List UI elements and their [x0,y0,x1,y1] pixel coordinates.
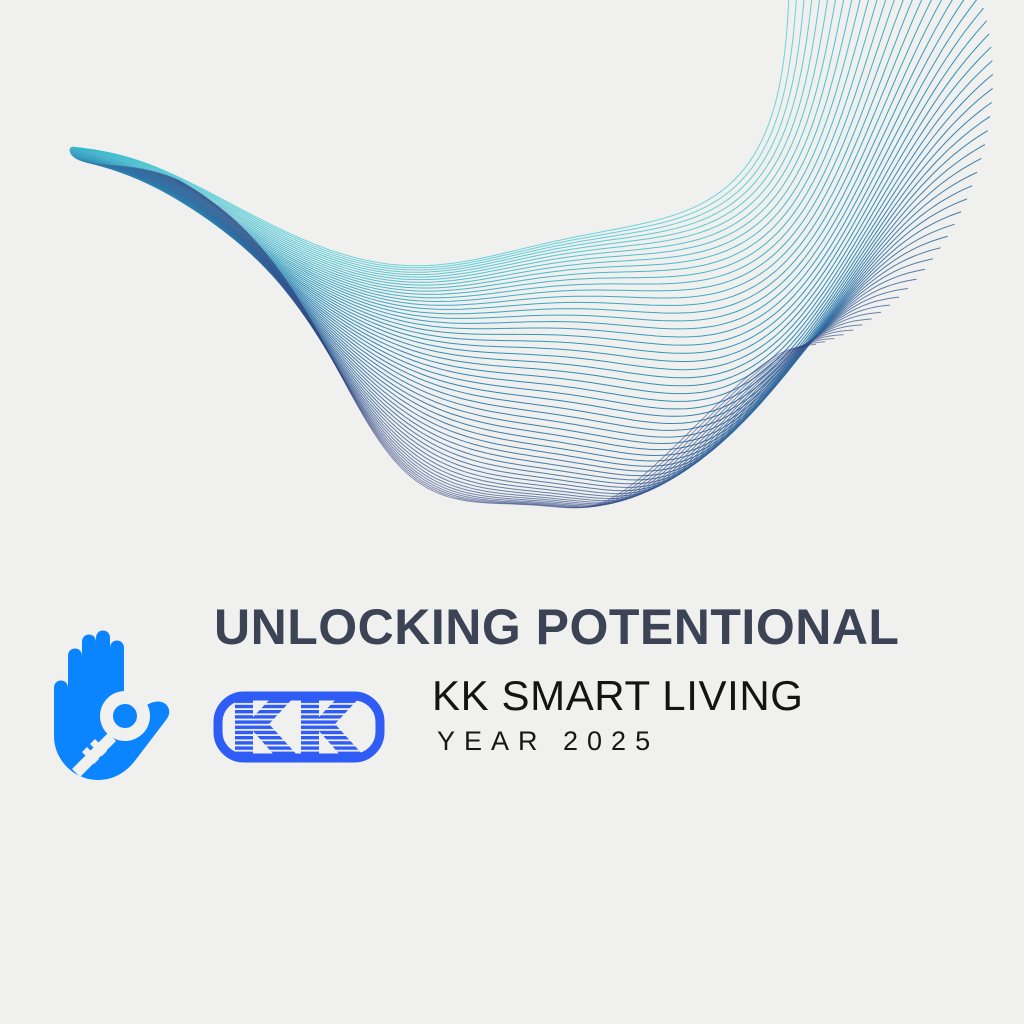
wave-line [70,0,935,305]
wave-line [97,159,981,444]
wave-line [166,175,834,507]
wave-line [74,0,848,277]
wave-line [138,168,898,496]
wave-line [70,0,950,314]
wave-line [162,174,843,506]
wave-line [70,0,927,302]
wave-line [150,171,871,503]
wave-line [170,176,825,507]
wave-line [73,0,858,280]
wave-line [113,165,955,471]
wave-line [154,172,862,504]
wave-line [109,165,960,466]
wave-line [70,0,918,298]
wave-artwork [0,0,1024,630]
wave-line [142,169,890,499]
wave-line [87,103,991,417]
wave-line [78,34,989,378]
poster-canvas: UNLOCKING POTENTIONAL [0,0,1024,1024]
wave-line [76,21,986,370]
wave-line [103,165,972,456]
wave-line [75,9,983,362]
wave-line [75,0,826,272]
wave-line [92,131,988,431]
wave-line [89,117,989,424]
wave-line [177,180,806,508]
wave-line [120,166,941,480]
wave-line [81,61,992,394]
kk-striped-badge-logo [213,684,385,766]
wave-line [116,166,947,476]
wave-line [78,0,793,266]
wave-line [70,0,943,309]
wave-line [77,0,804,268]
wave-line [76,0,815,270]
wave-line [94,145,984,437]
wave-line [100,164,977,449]
wave-line [73,0,975,345]
wave-line [71,0,958,321]
wave-line [123,166,932,484]
wave-line [146,170,881,501]
wave-line [72,0,879,285]
hand-with-key-icon [42,616,182,784]
wave-line [174,178,816,508]
wave-line [71,0,964,329]
wave-line [131,167,917,491]
wave-line [106,165,967,461]
wave-line [83,75,993,402]
wave-line [85,89,993,409]
year-label: YEAR 2025 [437,728,659,755]
wave-line [70,0,908,294]
wave-line [134,168,907,494]
wave-line [79,47,991,386]
wave-line [71,0,889,288]
wave-line [127,167,925,488]
wave-line [72,0,970,337]
page-title: UNLOCKING POTENTIONAL [214,602,899,652]
brand-subtitle: KK SMART LIVING [432,675,804,717]
wave-line [74,0,836,275]
wave-line [71,0,899,291]
brand-lockup: UNLOCKING POTENTIONAL [0,596,1024,796]
wave-line [72,0,868,282]
wave-line [74,0,980,353]
wave-line [158,173,853,505]
